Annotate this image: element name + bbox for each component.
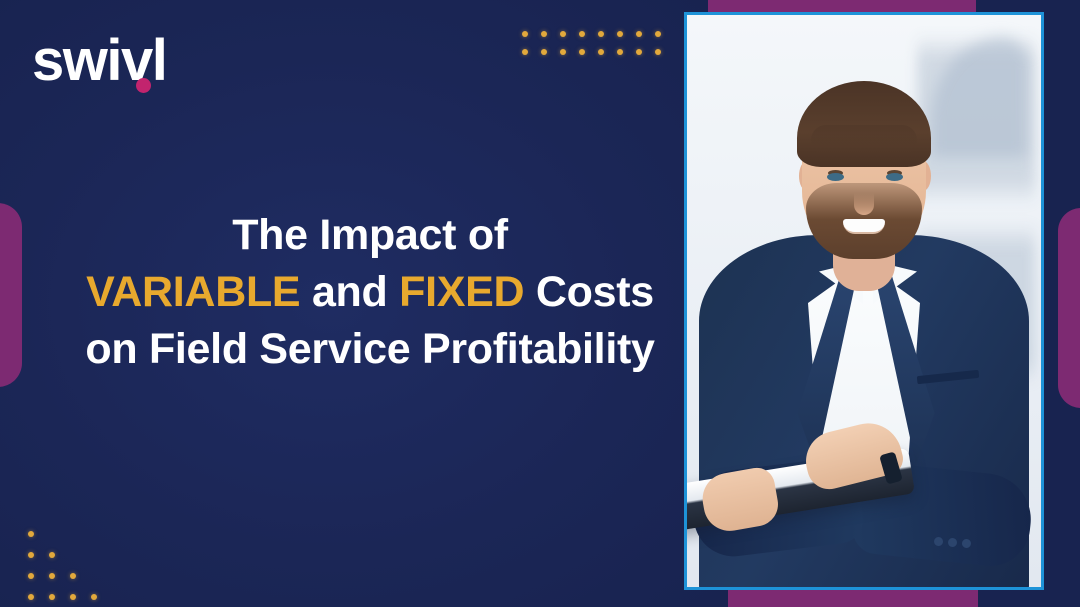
right-pill-decoration <box>1058 208 1080 408</box>
grid-dot <box>655 49 661 55</box>
grid-dot <box>598 31 604 37</box>
cuff-button <box>962 539 972 549</box>
grid-dot <box>636 49 642 55</box>
bottom-dot-stair-decoration <box>28 531 112 607</box>
headline-line-2: VARIABLE and FIXED Costs <box>60 264 680 321</box>
grid-dot <box>522 31 528 37</box>
grid-dot <box>579 31 585 37</box>
top-dot-grid-decoration <box>522 31 674 67</box>
grid-dot <box>579 49 585 55</box>
hair <box>797 81 931 167</box>
brand-logo[interactable]: swivl <box>32 32 166 90</box>
stair-dot <box>49 573 55 579</box>
grid-dot <box>655 31 661 37</box>
grid-dot <box>522 49 528 55</box>
headline-line-3: on Field Service Profitability <box>60 321 680 378</box>
photo-bottom-accent-bar <box>728 589 978 607</box>
grid-dot <box>541 49 547 55</box>
headline-accent-fixed: FIXED <box>399 268 524 316</box>
nose <box>854 193 874 215</box>
stair-dot <box>28 552 34 558</box>
stair-dot <box>91 594 97 600</box>
smile-mouth <box>843 219 885 234</box>
headline-costs-word: Costs <box>524 268 654 316</box>
left-pill-decoration <box>0 203 22 387</box>
grid-dot <box>541 31 547 37</box>
stair-dot <box>70 573 76 579</box>
headline-accent-variable: VARIABLE <box>86 268 300 316</box>
grid-dot <box>598 49 604 55</box>
cuff-button <box>948 538 958 548</box>
stair-dot <box>49 594 55 600</box>
headline-title: The Impact of VARIABLE and FIXED Costs o… <box>60 207 680 379</box>
stair-dot <box>49 552 55 558</box>
headline-line-1: The Impact of <box>60 207 680 264</box>
cuff-button <box>934 537 944 547</box>
eye-right <box>886 173 903 181</box>
grid-dot <box>560 31 566 37</box>
hero-photo-businessman <box>687 15 1041 587</box>
eye-left <box>827 173 844 181</box>
grid-dot <box>617 31 623 37</box>
grid-dot <box>636 31 642 37</box>
hero-photo-frame <box>684 12 1044 590</box>
marketing-banner: swivl The Impact of VARIABLE and FIXED C… <box>0 0 1080 607</box>
headline-connector-and: and <box>300 268 399 316</box>
logo-dot-icon <box>136 78 151 93</box>
stair-dot <box>28 594 34 600</box>
grid-dot <box>617 49 623 55</box>
stair-dot <box>70 594 76 600</box>
stair-dot <box>28 573 34 579</box>
grid-dot <box>560 49 566 55</box>
stair-dot <box>28 531 34 537</box>
